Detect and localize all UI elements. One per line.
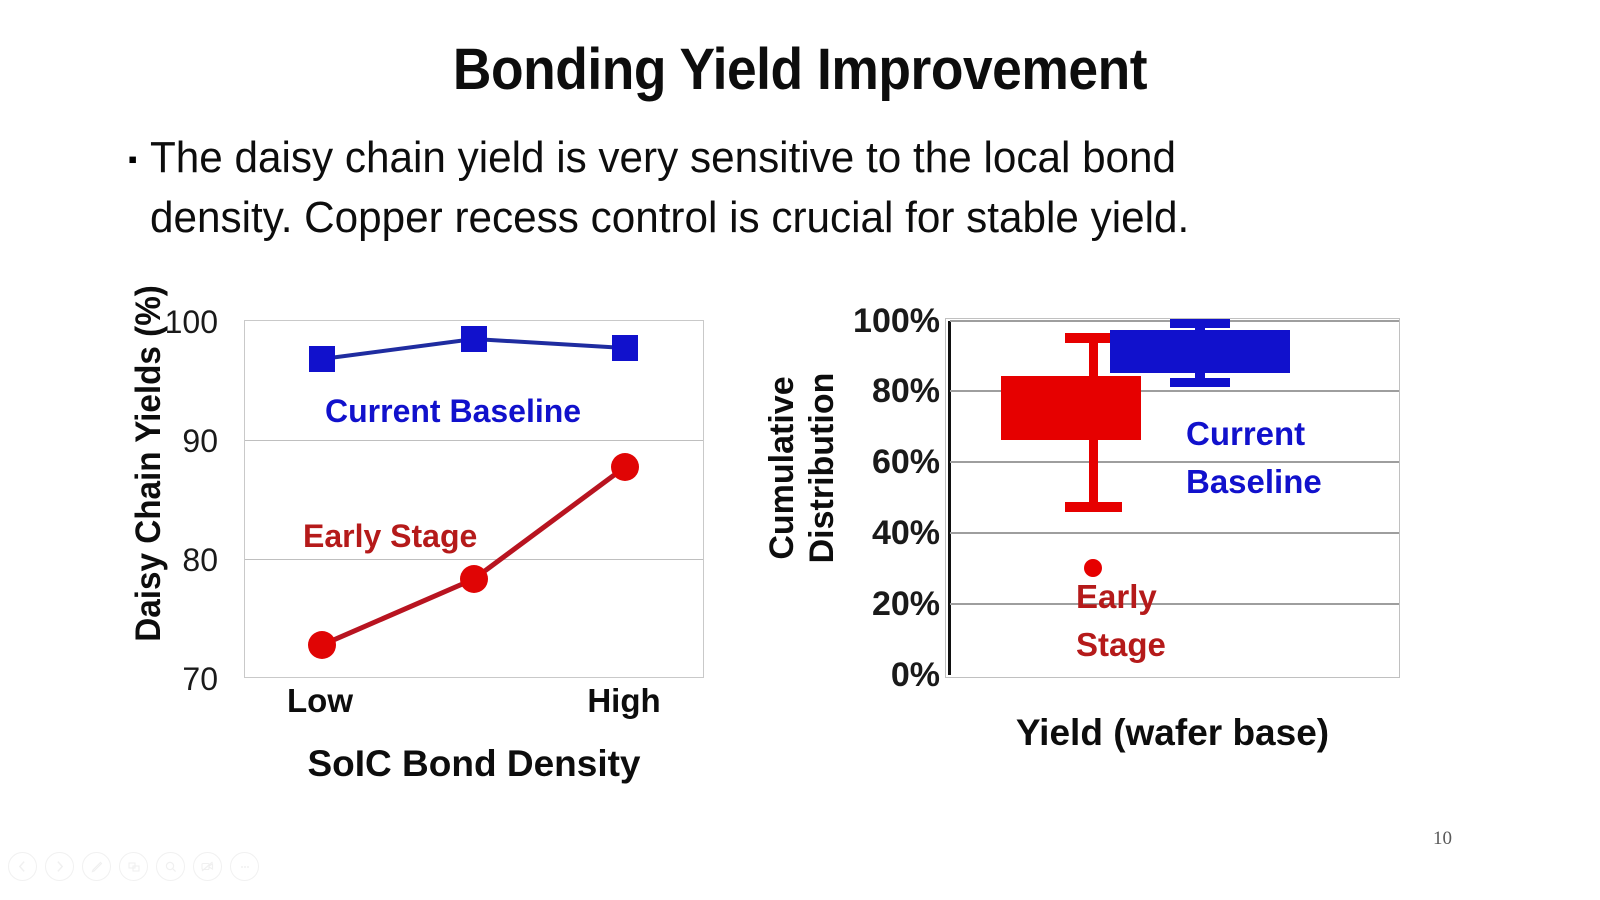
left-chart-label-current-baseline: Current Baseline xyxy=(325,393,581,430)
right-chart-label-current-baseline-line2: Baseline xyxy=(1186,463,1322,501)
marker-early-high xyxy=(611,453,639,481)
right-chart-x-axis-title: Yield (wafer base) xyxy=(945,712,1400,754)
left-chart-ytick-80: 80 xyxy=(146,542,218,579)
left-chart-plot-area: Current Baseline Early Stage xyxy=(244,320,704,678)
right-chart-ytick-20: 20% xyxy=(830,585,940,624)
bullet-marker-icon: ▪ xyxy=(128,128,150,190)
slide: Bonding Yield Improvement ▪ The daisy ch… xyxy=(0,0,1600,900)
zoom-icon[interactable] xyxy=(156,852,185,881)
marker-early-mid xyxy=(460,565,488,593)
left-chart-ytick-100: 100 xyxy=(146,304,218,341)
pen-icon[interactable] xyxy=(82,852,111,881)
right-chart-y-axis-title-line1: Cumulative xyxy=(763,293,802,643)
right-chart-label-current-baseline-line1: Current xyxy=(1186,415,1305,453)
left-chart-xtick-low: Low xyxy=(244,682,396,720)
right-chart-ytick-0: 0% xyxy=(830,656,940,695)
right-chart-ytick-40: 40% xyxy=(830,514,940,553)
next-slide-icon[interactable] xyxy=(45,852,74,881)
left-chart-y-axis-title: Daisy Chain Yields (%) xyxy=(129,328,169,642)
page-title: Bonding Yield Improvement xyxy=(64,36,1536,103)
bullet-block: ▪ The daisy chain yield is very sensitiv… xyxy=(128,128,1378,248)
right-chart-plot-area: Current Baseline Early Stage xyxy=(945,318,1400,678)
left-chart-label-early-stage: Early Stage xyxy=(303,518,477,555)
left-chart-x-axis-title: SoIC Bond Density xyxy=(244,743,704,785)
all-slides-icon[interactable] xyxy=(119,852,148,881)
left-chart-ytick-90: 90 xyxy=(146,423,218,460)
series-line-early-stage xyxy=(322,467,625,645)
right-chart-ytick-80: 80% xyxy=(830,372,940,411)
marker-early-low xyxy=(308,631,336,659)
body-text: The daisy chain yield is very sensitive … xyxy=(150,128,1329,248)
presenter-toolbar[interactable] xyxy=(8,852,259,881)
chart-daisy-chain-yields: Daisy Chain Yields (%) 100 90 80 70 xyxy=(100,280,740,800)
left-chart-xtick-high: High xyxy=(548,682,700,720)
right-chart-ytick-60: 60% xyxy=(830,443,940,482)
marker-baseline-mid xyxy=(461,326,487,352)
previous-slide-icon[interactable] xyxy=(8,852,37,881)
right-chart-boxes-svg xyxy=(946,319,1399,677)
more-options-icon[interactable] xyxy=(230,852,259,881)
left-chart-ytick-70: 70 xyxy=(146,661,218,698)
right-chart-ytick-100: 100% xyxy=(830,302,940,341)
chart-cumulative-distribution: Cumulative Distribution 100% 80% 60% 40%… xyxy=(740,290,1440,790)
page-number: 10 xyxy=(1433,828,1452,850)
outlier-early-stage xyxy=(1084,559,1102,577)
left-chart-series-svg xyxy=(245,321,703,677)
marker-baseline-high xyxy=(612,335,638,361)
marker-baseline-low xyxy=(309,346,335,372)
video-off-icon[interactable] xyxy=(193,852,222,881)
right-chart-label-early-stage-line1: Early xyxy=(1076,578,1157,616)
right-chart-label-early-stage-line2: Stage xyxy=(1076,626,1166,664)
